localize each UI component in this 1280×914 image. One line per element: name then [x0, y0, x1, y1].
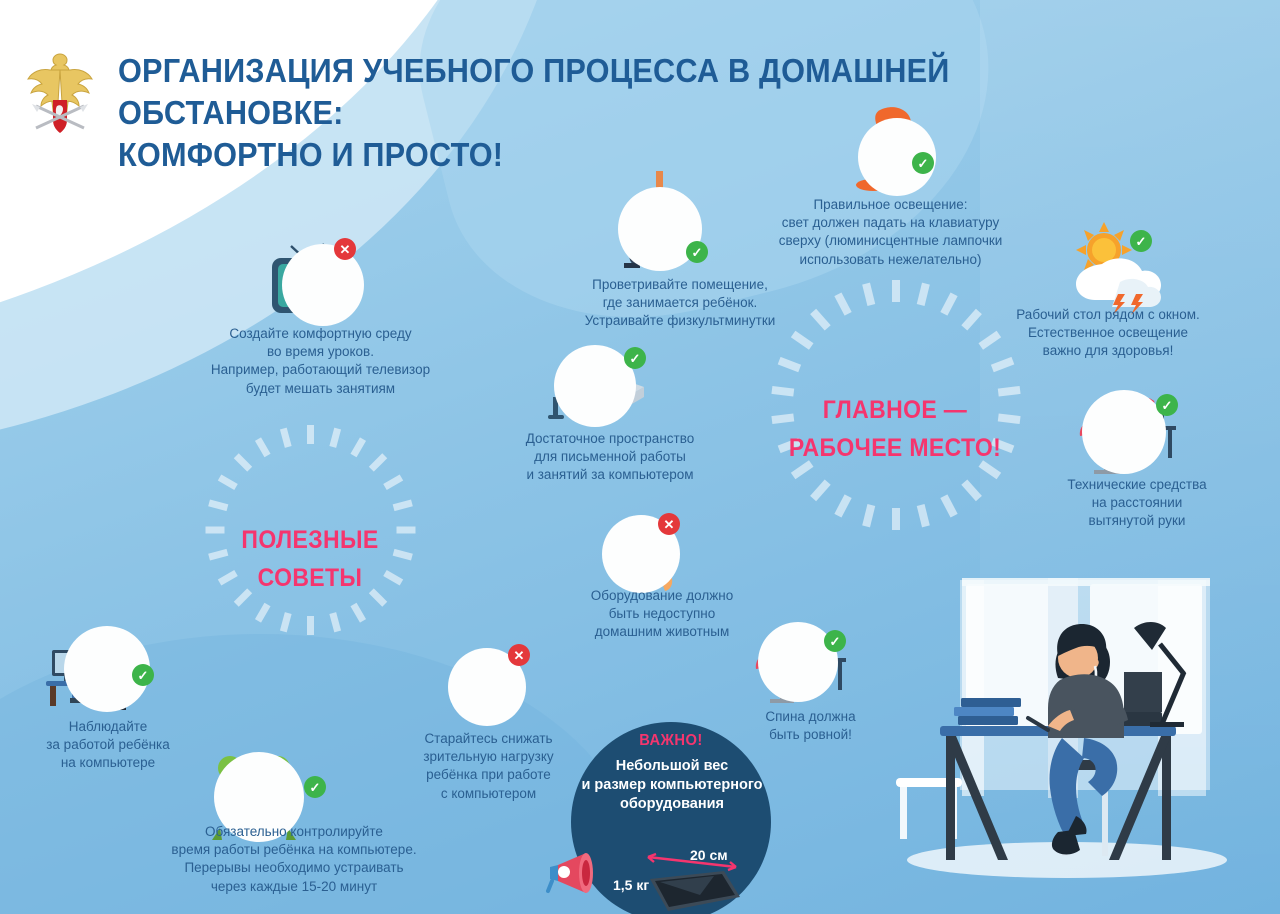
section-heading-useful-tips-line-2: СОВЕТЫ	[213, 560, 406, 598]
badge-recommended: ✓	[132, 664, 154, 686]
badge-recommended: ✓	[624, 347, 646, 369]
page-title-line-1: ОРГАНИЗАЦИЯ УЧЕБНОГО ПРОЦЕССА В ДОМАШНЕЙ…	[118, 50, 1104, 134]
tip-text-pets: Оборудование должнобыть недоступнодомашн…	[562, 587, 762, 642]
tip-text-eye-strain: Старайтесь снижатьзрительную нагрузкуреб…	[396, 730, 581, 803]
badge-recommended: ✓	[304, 776, 326, 798]
tip-text-supervision: Наблюдайтеза работой ребёнкана компьютер…	[18, 718, 198, 773]
tip-icon-cat: ✕	[592, 505, 702, 590]
section-heading-main-workplace: ГЛАВНОЕ — РАБОЧЕЕ МЕСТО!	[780, 392, 1010, 467]
tip-text-lighting: Правильное освещение:свет должен падать …	[738, 196, 1043, 269]
badge-recommended: ✓	[686, 241, 708, 263]
tip-icon-supervision: ✓	[24, 612, 164, 712]
tip-icon-tv: ✕	[250, 230, 360, 330]
badge-recommended: ✓	[1156, 394, 1178, 416]
section-heading-useful-tips: ПОЛЕЗНЫЕ СОВЕТЫ	[213, 522, 406, 597]
tip-text-window: Рабочий стол рядом с окном.Естественное …	[978, 306, 1238, 361]
tip-icon-workspace: ✓	[540, 335, 660, 430]
tip-text-arms-reach: Технические средствана расстояниивытянут…	[1042, 476, 1232, 531]
tip-text-ventilation: Проветривайте помещение,где занимается р…	[540, 276, 820, 331]
megaphone-icon	[546, 845, 616, 905]
badge-not-recommended: ✕	[658, 513, 680, 535]
tip-icon-tired-eyes: ✕	[440, 638, 550, 728]
tip-icon-posture: ✓	[746, 612, 856, 707]
badge-not-recommended: ✕	[508, 644, 530, 666]
tip-icon-arms-reach: ✓	[1068, 378, 1188, 478]
section-heading-useful-tips-line-1: ПОЛЕЗНЫЕ	[213, 522, 406, 560]
important-label: ВАЖНО!	[579, 732, 763, 750]
tablet-device-icon	[640, 845, 770, 914]
tip-text-space: Достаточное пространстводля письменной р…	[490, 430, 730, 485]
badge-recommended: ✓	[824, 630, 846, 652]
infographic-poster: ОРГАНИЗАЦИЯ УЧЕБНОГО ПРОЦЕССА В ДОМАШНЕЙ…	[0, 0, 1280, 914]
section-heading-main-workplace-line-2: РАБОЧЕЕ МЕСТО!	[780, 430, 1010, 468]
tip-icon-sun-cloud: ✓	[1060, 216, 1190, 316]
page-title-line-2: КОМФОРТНО И ПРОСТО!	[118, 134, 1104, 176]
page-title: ОРГАНИЗАЦИЯ УЧЕБНОГО ПРОЦЕССА В ДОМАШНЕЙ…	[118, 50, 1104, 177]
russian-coat-of-arms-icon	[22, 44, 98, 136]
badge-recommended: ✓	[1130, 230, 1152, 252]
tip-text-tv: Создайте комфортную средуво время уроков…	[168, 325, 473, 398]
section-heading-main-workplace-line-1: ГЛАВНОЕ —	[780, 392, 1010, 430]
badge-not-recommended: ✕	[334, 238, 356, 260]
student-at-desk-illustration	[862, 560, 1280, 914]
tip-icon-stretching: ✓	[600, 165, 720, 275]
tip-text-time-limit: Обязательно контролируйтевремя работы ре…	[148, 823, 440, 896]
important-text: Небольшой веси размер компьютерногообору…	[566, 757, 778, 814]
